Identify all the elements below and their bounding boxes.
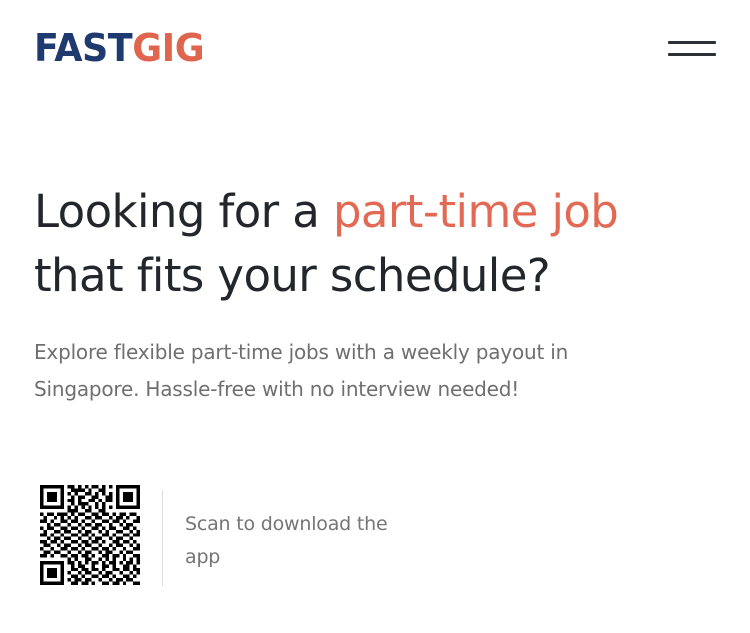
qr-code-icon[interactable] — [38, 485, 142, 585]
brand-logo-fast: FAST — [34, 26, 132, 70]
brand-logo-gig: GIG — [132, 26, 204, 70]
heading-accent-text: part-time job — [333, 185, 618, 238]
qr-caption: Scan to download the app — [163, 485, 395, 586]
hero-subtitle: Explore flexible part-time jobs with a w… — [34, 308, 644, 408]
hamburger-menu-icon[interactable] — [666, 28, 716, 68]
brand-logo[interactable]: FASTGIG — [34, 29, 204, 67]
qr-code-svg — [38, 485, 142, 585]
hero-section: Looking for a part-time job that fits yo… — [0, 96, 750, 408]
site-header: FASTGIG — [0, 0, 750, 96]
qr-download-block: Scan to download the app — [38, 485, 395, 586]
hamburger-bar-top — [668, 41, 716, 44]
heading-tail-text: that fits your schedule? — [34, 249, 550, 302]
hamburger-bar-bottom — [668, 53, 716, 56]
page-title: Looking for a part-time job that fits yo… — [34, 96, 716, 308]
heading-lead-text: Looking for a — [34, 185, 333, 238]
